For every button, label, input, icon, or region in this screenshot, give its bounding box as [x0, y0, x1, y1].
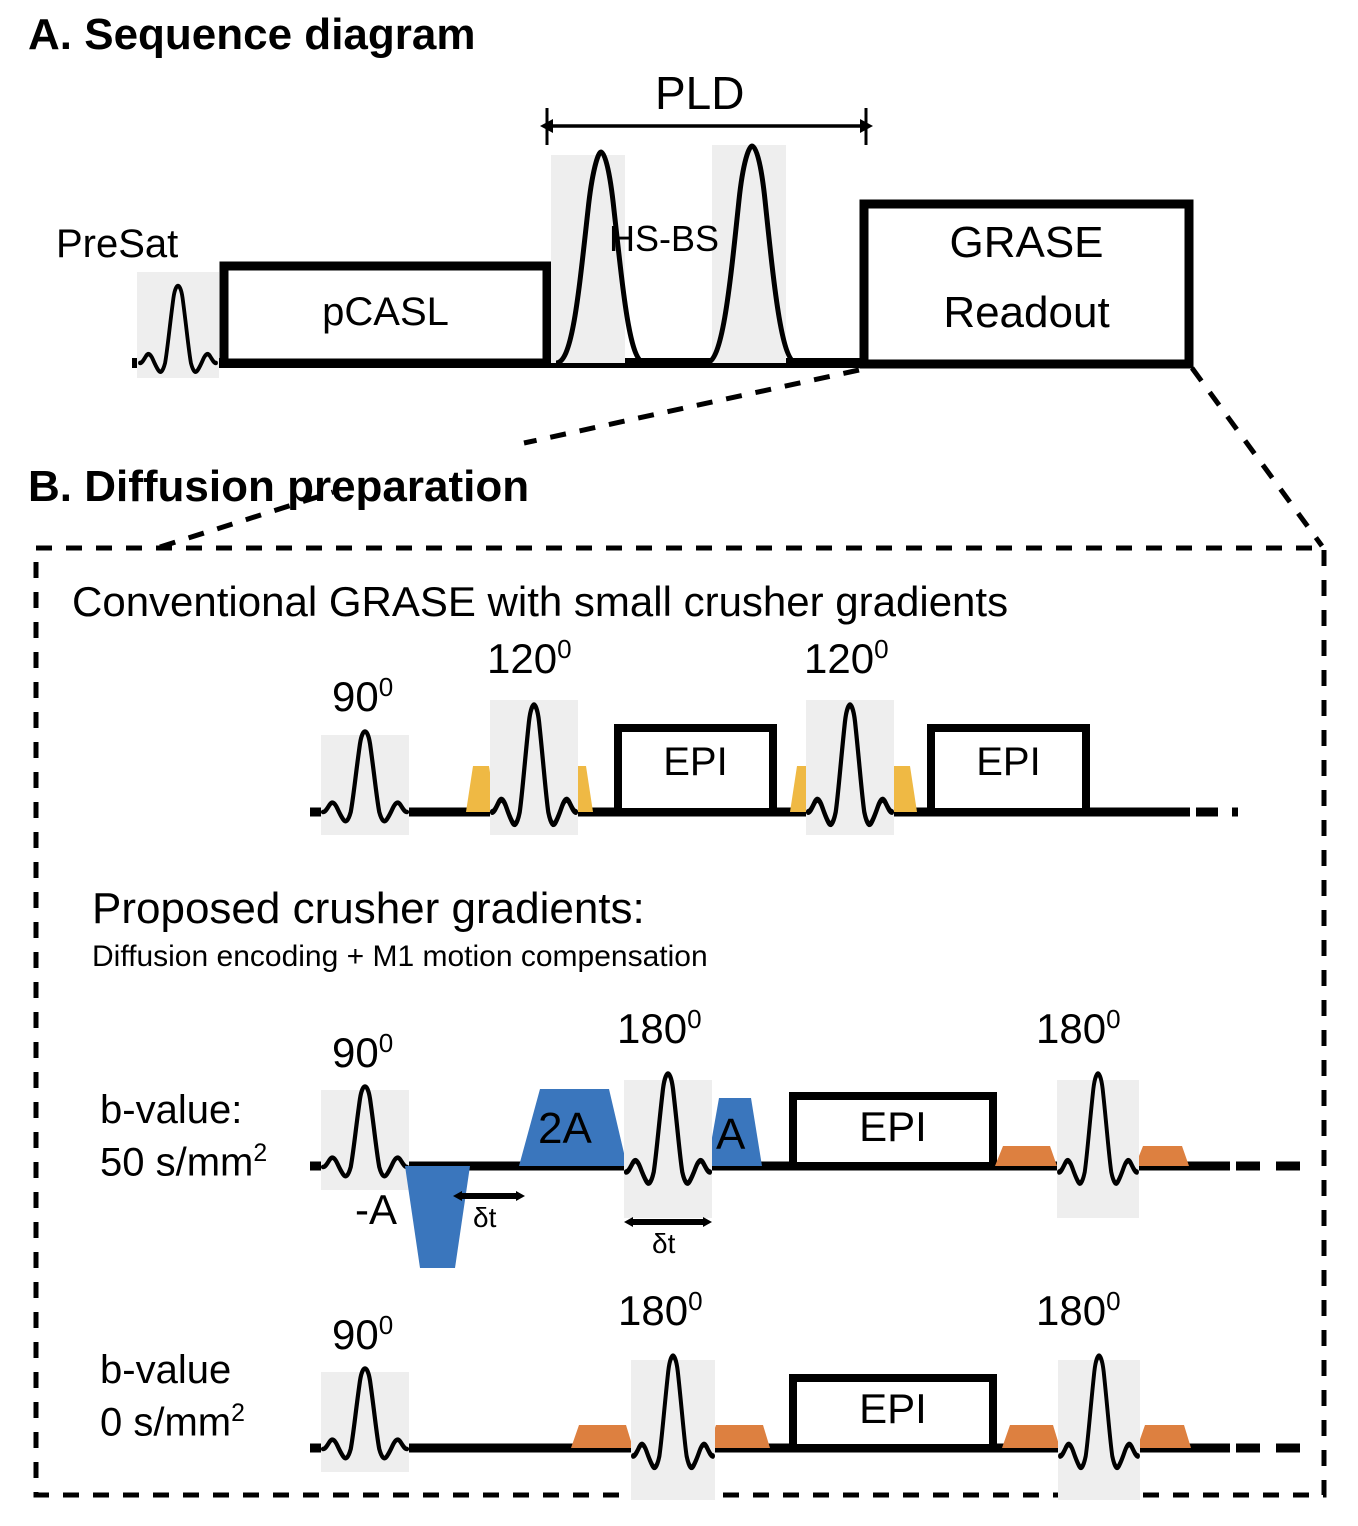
- row1-flip-value-120a: 120: [487, 635, 557, 682]
- row2-rf-shade-180b: [1057, 1080, 1139, 1218]
- row1-flip-label-120b: 1200: [804, 634, 889, 683]
- row2-flip-label-90: 900: [332, 1028, 393, 1077]
- row2-flip-label-180a: 1800: [617, 1004, 702, 1053]
- conventional-heading: Conventional GRASE with small crusher gr…: [72, 578, 1008, 626]
- row3-epi-label: EPI: [793, 1385, 993, 1433]
- proposed-heading: Proposed crusher gradients:: [92, 884, 645, 934]
- row2-flip-value-180a: 180: [617, 1005, 687, 1052]
- row2-gradient-label-2A: 2A: [538, 1104, 592, 1154]
- row2-epi-label: EPI: [793, 1103, 993, 1151]
- row1-rf-shade-120a: [490, 700, 578, 835]
- row3-rf-shade-180b: [1058, 1360, 1140, 1500]
- row2-deltat-label-1: δt: [473, 1202, 496, 1234]
- row2-crusher-b: [1135, 1146, 1189, 1166]
- row3-crusher-1a: [571, 1425, 633, 1448]
- row2-flip-value-90: 90: [332, 1029, 379, 1076]
- pcasl-label: pCASL: [224, 290, 547, 335]
- row2-crusher-a: [995, 1146, 1057, 1166]
- row3-bvalue-label-line2: 0 s/mm2: [100, 1400, 245, 1445]
- row3-flip-sup-90: 0: [379, 1310, 393, 1340]
- row3-rf-shade-90: [321, 1372, 409, 1472]
- row3-flip-value-180b: 180: [1036, 1287, 1106, 1334]
- row3-bvalue-units-sup: 2: [231, 1400, 245, 1427]
- row2-deltat-label-2: δt: [652, 1228, 675, 1260]
- row2-bvalue-label-line2: 50 s/mm2: [100, 1140, 267, 1185]
- row3-rf-shade-180a: [631, 1360, 715, 1500]
- row2-bvalue-units-sup: 2: [253, 1140, 267, 1167]
- row1-epi-label-1: EPI: [618, 740, 773, 785]
- row1-rf-shade-120b: [806, 700, 894, 835]
- row1-flip-value-120b: 120: [804, 635, 874, 682]
- row1-flip-label-90: 900: [332, 672, 393, 721]
- panelB-title: B. Diffusion preparation: [28, 462, 529, 512]
- row3-flip-sup-180b: 0: [1106, 1286, 1120, 1316]
- row2-rf-shade-90: [321, 1090, 409, 1190]
- row3-flip-label-90: 900: [332, 1310, 393, 1359]
- row3-crusher-2b: [1137, 1425, 1191, 1448]
- proposed-subheading: Diffusion encoding + M1 motion compensat…: [92, 940, 708, 974]
- row1-flip-sup-90: 0: [379, 672, 393, 702]
- row3-flip-value-90: 90: [332, 1311, 379, 1358]
- row1-rf-shade-90: [321, 735, 409, 835]
- panelA-title: A. Sequence diagram: [28, 10, 475, 60]
- row3-bvalue-units: 0 s/mm: [100, 1400, 231, 1444]
- row2-bvalue-units: 50 s/mm: [100, 1140, 253, 1184]
- row2-gradient-label-A: A: [716, 1110, 745, 1160]
- row2-flip-label-180b: 1800: [1036, 1004, 1121, 1053]
- pld-label: PLD: [655, 66, 744, 120]
- grase-readout-label-line2: Readout: [864, 288, 1189, 338]
- row2-flip-sup-180b: 0: [1106, 1004, 1120, 1034]
- row-conventional-graphics: [310, 700, 1238, 835]
- row3-crusher-2a: [1002, 1425, 1060, 1448]
- row3-flip-label-180a: 1800: [618, 1286, 703, 1335]
- zoom-connector-left: [524, 370, 859, 443]
- row3-bvalue-label-line1: b-value: [100, 1348, 231, 1393]
- row3-flip-sup-180a: 0: [688, 1286, 702, 1316]
- zoom-connector-right: [1192, 368, 1322, 546]
- row1-flip-sup-120a: 0: [557, 634, 571, 664]
- row2-gradient-label-negA: -A: [355, 1186, 397, 1234]
- presat-label: PreSat: [56, 222, 178, 267]
- row2-gradient-negA: [405, 1166, 470, 1268]
- hsbs-label: HS-BS: [609, 218, 719, 260]
- row3-crusher-1b: [708, 1425, 770, 1448]
- row3-flip-value-180a: 180: [618, 1287, 688, 1334]
- row1-flip-label-120a: 1200: [487, 634, 572, 683]
- figure-canvas: A. Sequence diagram PreSat pCASL HS-BS P…: [0, 0, 1358, 1526]
- row2-bvalue-label-line1: b-value:: [100, 1088, 242, 1133]
- row2-flip-value-180b: 180: [1036, 1005, 1106, 1052]
- row1-flip-value-90: 90: [332, 673, 379, 720]
- row2-flip-sup-90: 0: [379, 1028, 393, 1058]
- row1-epi-label-2: EPI: [931, 740, 1086, 785]
- row1-flip-sup-120b: 0: [874, 634, 888, 664]
- grase-readout-label-line1: GRASE: [864, 218, 1189, 268]
- row2-flip-sup-180a: 0: [687, 1004, 701, 1034]
- row3-flip-label-180b: 1800: [1036, 1286, 1121, 1335]
- row2-rf-shade-180a: [624, 1080, 712, 1218]
